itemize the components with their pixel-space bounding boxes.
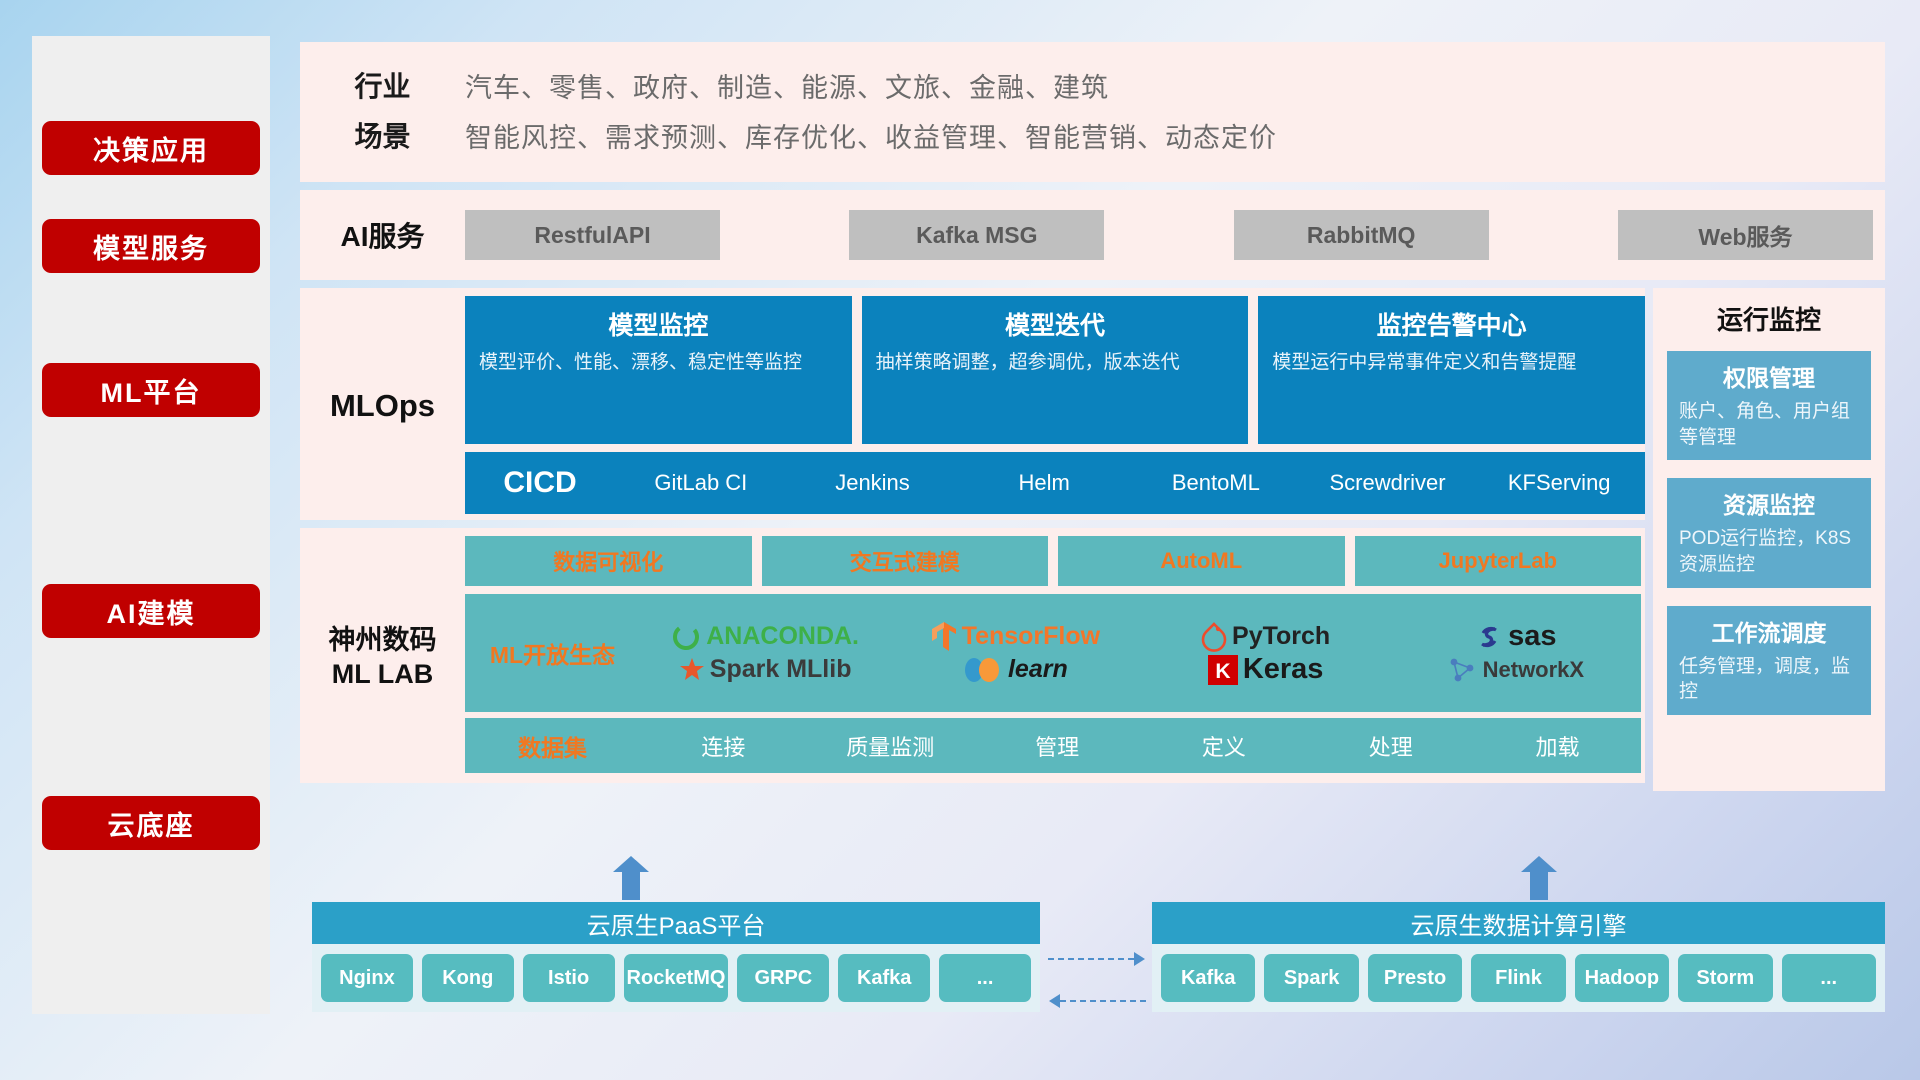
mlops-card-desc: 抽样策略调整，超参调优，版本迭代 <box>876 350 1235 376</box>
tensorflow-logo: TensorFlow <box>931 621 1100 653</box>
mlops-card-desc: 模型运行中异常事件定义和告警提醒 <box>1272 350 1631 376</box>
engine-chip-more[interactable]: ... <box>1782 954 1876 1002</box>
mlops-card-desc: 模型评价、性能、漂移、稳定性等监控 <box>479 350 838 376</box>
data-engine-chip-group: Kafka Spark Presto Flink Hadoop Storm ..… <box>1152 944 1885 1012</box>
sas-logo: sas <box>1475 620 1556 653</box>
mlops-card-group: 模型监控 模型评价、性能、漂移、稳定性等监控 模型迭代 抽样策略调整，超参调优，… <box>465 296 1645 444</box>
anaconda-logo-text: ANACONDA. <box>706 622 859 651</box>
lab-tool-interactive-modeling[interactable]: 交互式建模 <box>762 536 1049 586</box>
paas-chip-grpc[interactable]: GRPC <box>737 954 829 1002</box>
sas-logo-text: sas <box>1508 620 1556 653</box>
ml-lab-label-line2: ML LAB <box>300 658 465 692</box>
paas-chip-group: Nginx Kong Istio RocketMQ GRPC Kafka ... <box>312 944 1040 1012</box>
connector-left-arrow-icon <box>1049 994 1060 1008</box>
keras-logo-text: Keras <box>1243 653 1324 686</box>
scikit-learn-logo-text: learn <box>1008 655 1068 684</box>
monitoring-card-desc: POD运行监控，K8S资源监控 <box>1679 526 1859 577</box>
ml-lab-label: 神州数码 ML LAB <box>300 536 465 692</box>
cicd-item-kfserving[interactable]: KFServing <box>1473 471 1645 495</box>
paas-chip-kafka[interactable]: Kafka <box>838 954 930 1002</box>
connector-right-arrow-icon <box>1134 952 1145 966</box>
networkx-icon <box>1448 656 1478 684</box>
ai-service-chip-group: RestfulAPI Kafka MSG RabbitMQ Web服务 <box>465 210 1885 260</box>
runtime-monitoring-title: 运行监控 <box>1667 300 1871 337</box>
cicd-item-bentoml[interactable]: BentoML <box>1130 471 1302 495</box>
networkx-logo: NetworkX <box>1448 656 1584 684</box>
stage-badge-ai-modeling[interactable]: AI建模 <box>42 584 260 638</box>
cicd-bar: CICD GitLab CI Jenkins Helm BentoML Scre… <box>465 452 1645 514</box>
stage-sidebar: 决策应用 模型服务 ML平台 AI建模 云底座 <box>32 36 270 1014</box>
tensorflow-icon <box>931 621 957 653</box>
paas-chip-nginx[interactable]: Nginx <box>321 954 413 1002</box>
cicd-item-gitlab-ci[interactable]: GitLab CI <box>615 471 787 495</box>
dataset-row: 数据集 连接 质量监测 管理 定义 处理 加载 <box>465 718 1641 773</box>
runtime-monitoring-panel: 运行监控 权限管理 账户、角色、用户组等管理 资源监控 POD运行监控，K8S资… <box>1653 288 1885 791</box>
ml-lab-label-line1: 神州数码 <box>300 624 465 658</box>
pytorch-logo-text: PyTorch <box>1232 622 1330 651</box>
ai-service-chip-rabbitmq[interactable]: RabbitMQ <box>1234 210 1489 260</box>
arrow-up-paas-icon <box>613 856 649 900</box>
ml-ecosystem-label: ML开放生态 <box>465 636 640 670</box>
cicd-item-jenkins[interactable]: Jenkins <box>787 471 959 495</box>
scenario-value: 智能风控、需求预测、库存优化、收益管理、智能营销、动态定价 <box>465 116 1277 155</box>
industry-row: 行业 汽车、零售、政府、制造、能源、文旅、金融、建筑 <box>300 60 1885 110</box>
scenario-row: 场景 智能风控、需求预测、库存优化、收益管理、智能营销、动态定价 <box>300 110 1885 160</box>
mlops-card-alert-center[interactable]: 监控告警中心 模型运行中异常事件定义和告警提醒 <box>1258 296 1645 444</box>
lab-tool-automl[interactable]: AutoML <box>1058 536 1345 586</box>
paas-block: 云原生PaaS平台 Nginx Kong Istio RocketMQ GRPC… <box>312 902 1040 1012</box>
industry-value: 汽车、零售、政府、制造、能源、文旅、金融、建筑 <box>465 66 1109 105</box>
paas-chip-rocketmq[interactable]: RocketMQ <box>624 954 729 1002</box>
dataset-item-define[interactable]: 定义 <box>1140 730 1307 762</box>
connector-right-line <box>1048 958 1134 960</box>
data-engine-block: 云原生数据计算引擎 Kafka Spark Presto Flink Hadoo… <box>1152 902 1885 1012</box>
spark-mllib-logo: Spark MLlib <box>679 655 852 684</box>
dataset-item-connect[interactable]: 连接 <box>640 730 807 762</box>
mlops-card-title: 模型迭代 <box>876 306 1235 342</box>
monitoring-card-desc: 任务管理，调度，监控 <box>1679 654 1859 705</box>
scikit-learn-logo: learn <box>963 655 1068 684</box>
sas-icon <box>1475 623 1503 651</box>
lab-tool-jupyterlab[interactable]: JupyterLab <box>1355 536 1642 586</box>
monitoring-card-resource[interactable]: 资源监控 POD运行监控，K8S资源监控 <box>1667 478 1871 587</box>
stage-badge-decision[interactable]: 决策应用 <box>42 121 260 175</box>
monitoring-card-title: 工作流调度 <box>1679 614 1859 648</box>
paas-chip-more[interactable]: ... <box>939 954 1031 1002</box>
mlops-label: MLOps <box>300 296 465 424</box>
keras-icon: K <box>1208 655 1238 685</box>
ml-ecosystem-row: ML开放生态 ANACONDA. <box>465 594 1641 712</box>
dataset-item-manage[interactable]: 管理 <box>974 730 1141 762</box>
anaconda-logo: ANACONDA. <box>671 622 859 652</box>
mlops-card-model-monitor[interactable]: 模型监控 模型评价、性能、漂移、稳定性等监控 <box>465 296 852 444</box>
connector-left-line <box>1060 1000 1146 1002</box>
svg-text:K: K <box>1215 660 1230 683</box>
stage-badge-ml-platform[interactable]: ML平台 <box>42 363 260 417</box>
monitoring-card-permission[interactable]: 权限管理 账户、角色、用户组等管理 <box>1667 351 1871 460</box>
tensorflow-logo-text: TensorFlow <box>962 622 1100 651</box>
paas-title: 云原生PaaS平台 <box>312 902 1040 944</box>
ai-service-band: AI服务 RestfulAPI Kafka MSG RabbitMQ Web服务 <box>300 190 1885 280</box>
data-engine-title: 云原生数据计算引擎 <box>1152 902 1885 944</box>
keras-logo: K Keras <box>1208 653 1324 686</box>
engine-chip-flink[interactable]: Flink <box>1471 954 1565 1002</box>
ai-service-chip-restfulapi[interactable]: RestfulAPI <box>465 210 720 260</box>
stage-badge-cloud-base[interactable]: 云底座 <box>42 796 260 850</box>
industry-label: 行业 <box>300 65 465 105</box>
platform-region: MLOps 模型监控 模型评价、性能、漂移、稳定性等监控 模型迭代 抽样策略调整… <box>300 288 1885 791</box>
ai-service-chip-kafka-msg[interactable]: Kafka MSG <box>849 210 1104 260</box>
cicd-title: CICD <box>465 466 615 500</box>
cicd-item-helm[interactable]: Helm <box>958 471 1130 495</box>
mlops-card-title: 模型监控 <box>479 306 838 342</box>
ml-lab-band: 神州数码 ML LAB 数据可视化 交互式建模 AutoML JupyterLa… <box>300 528 1645 783</box>
mlops-card-title: 监控告警中心 <box>1272 306 1631 342</box>
engine-chip-presto[interactable]: Presto <box>1368 954 1462 1002</box>
stage-badge-model-service[interactable]: 模型服务 <box>42 219 260 273</box>
spark-star-icon <box>679 657 705 683</box>
mlops-band: MLOps 模型监控 模型评价、性能、漂移、稳定性等监控 模型迭代 抽样策略调整… <box>300 288 1645 520</box>
dataset-item-load[interactable]: 加载 <box>1474 730 1641 762</box>
networkx-logo-text: NetworkX <box>1483 657 1584 683</box>
spark-mllib-logo-text: Spark MLlib <box>710 655 852 684</box>
cicd-item-screwdriver[interactable]: Screwdriver <box>1302 471 1474 495</box>
scenario-label: 场景 <box>300 115 465 155</box>
arrow-up-engine-icon <box>1521 856 1557 900</box>
lab-tool-data-visualization[interactable]: 数据可视化 <box>465 536 752 586</box>
decision-apps-band: 行业 汽车、零售、政府、制造、能源、文旅、金融、建筑 场景 智能风控、需求预测、… <box>300 42 1885 182</box>
cloud-foundation-region: 云原生PaaS平台 Nginx Kong Istio RocketMQ GRPC… <box>300 890 1885 1050</box>
lab-tool-group: 数据可视化 交互式建模 AutoML JupyterLab <box>465 536 1641 586</box>
engine-chip-hadoop[interactable]: Hadoop <box>1575 954 1669 1002</box>
scikit-learn-icon <box>963 656 1003 684</box>
pytorch-icon <box>1201 622 1227 652</box>
engine-chip-storm[interactable]: Storm <box>1678 954 1772 1002</box>
dataset-item-quality[interactable]: 质量监测 <box>807 730 974 762</box>
monitoring-card-title: 资源监控 <box>1679 486 1859 520</box>
paas-chip-kong[interactable]: Kong <box>422 954 514 1002</box>
dataset-item-process[interactable]: 处理 <box>1307 730 1474 762</box>
architecture-main: 行业 汽车、零售、政府、制造、能源、文旅、金融、建筑 场景 智能风控、需求预测、… <box>300 42 1885 791</box>
mlops-card-model-iteration[interactable]: 模型迭代 抽样策略调整，超参调优，版本迭代 <box>862 296 1249 444</box>
paas-chip-istio[interactable]: Istio <box>523 954 615 1002</box>
engine-chip-kafka[interactable]: Kafka <box>1161 954 1255 1002</box>
engine-chip-spark[interactable]: Spark <box>1264 954 1358 1002</box>
dataset-label: 数据集 <box>465 729 640 763</box>
pytorch-logo: PyTorch <box>1201 622 1330 652</box>
ai-service-label: AI服务 <box>300 215 465 255</box>
anaconda-icon <box>671 622 701 652</box>
monitoring-card-workflow[interactable]: 工作流调度 任务管理，调度，监控 <box>1667 606 1871 715</box>
monitoring-card-desc: 账户、角色、用户组等管理 <box>1679 399 1859 450</box>
ml-ecosystem-logo-grid: ANACONDA. TensorFlow <box>640 620 1641 686</box>
monitoring-card-title: 权限管理 <box>1679 359 1859 393</box>
ai-service-chip-web[interactable]: Web服务 <box>1618 210 1873 260</box>
